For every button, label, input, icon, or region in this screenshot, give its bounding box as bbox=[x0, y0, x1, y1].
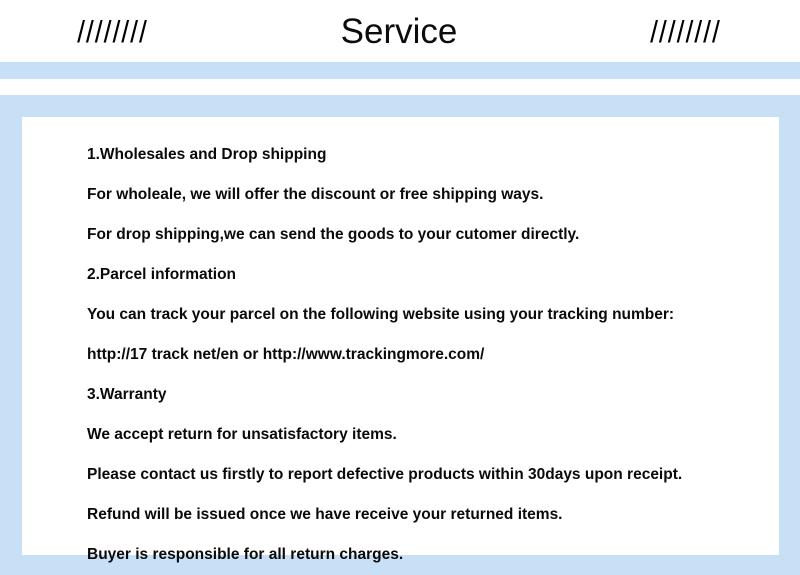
policy-line: 2.Parcel information bbox=[87, 255, 779, 295]
policy-line-tracking-url: http://17 track net/en or http://www.tra… bbox=[87, 335, 779, 375]
service-policy-banner: //////// Service //////// 1.Wholesales a… bbox=[0, 0, 800, 575]
right-slash-decoration-icon: //////// bbox=[650, 16, 721, 47]
policy-line: You can track your parcel on the followi… bbox=[87, 295, 779, 335]
policy-line: For drop shipping,we can send the goods … bbox=[87, 215, 779, 255]
policy-line: We accept return for unsatisfactory item… bbox=[87, 415, 779, 455]
page-title: Service bbox=[341, 14, 458, 49]
banner-header: //////// Service //////// bbox=[0, 0, 800, 62]
policy-line: Buyer is responsible for all return char… bbox=[87, 535, 779, 575]
policy-line: 1.Wholesales and Drop shipping bbox=[87, 135, 779, 175]
policy-line: For wholeale, we will offer the discount… bbox=[87, 175, 779, 215]
policy-line: Please contact us firstly to report defe… bbox=[87, 455, 779, 495]
header-inner: //////// Service //////// bbox=[70, 14, 730, 49]
policy-line: Refund will be issued once we have recei… bbox=[87, 495, 779, 535]
left-slash-decoration-icon: //////// bbox=[77, 16, 148, 47]
content-panel: 1.Wholesales and Drop shipping For whole… bbox=[0, 95, 800, 575]
header-divider-bar bbox=[0, 62, 800, 79]
policy-line: 3.Warranty bbox=[87, 375, 779, 415]
content-card: 1.Wholesales and Drop shipping For whole… bbox=[22, 117, 779, 555]
